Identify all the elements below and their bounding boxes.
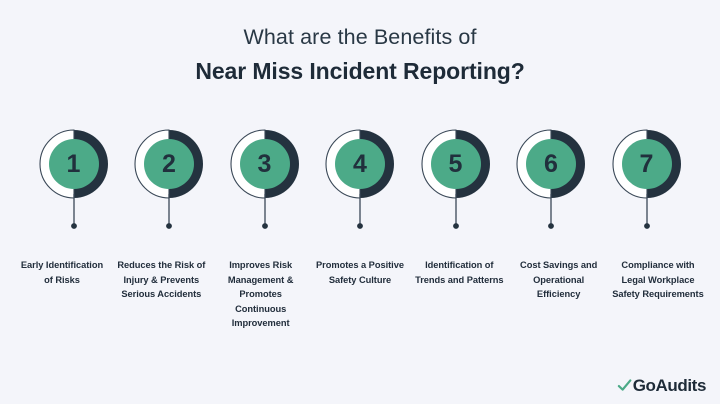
step-item: 4 bbox=[313, 128, 408, 236]
step-caption: Improves Risk Management & Promotes Cont… bbox=[215, 258, 307, 331]
infographic-canvas: What are the Benefits of Near Miss Incid… bbox=[0, 0, 720, 404]
step-caption: Compliance with Legal Workplace Safety R… bbox=[612, 258, 704, 302]
step-caption: Reduces the Risk of Injury & Prevents Se… bbox=[115, 258, 207, 302]
step-badge: 7 bbox=[611, 128, 683, 236]
goaudits-logo: GoAudits bbox=[617, 377, 706, 394]
step-item: 7 bbox=[599, 128, 694, 236]
step-badge: 3 bbox=[229, 128, 301, 236]
badge-ring-icon bbox=[229, 128, 301, 236]
badge-ring-icon bbox=[133, 128, 205, 236]
step-caption: Identification of Trends and Patterns bbox=[413, 258, 505, 287]
step-badge: 2 bbox=[133, 128, 205, 236]
step-badge: 6 bbox=[515, 128, 587, 236]
badge-ring-icon bbox=[38, 128, 110, 236]
step-caption: Promotes a Positive Safety Culture bbox=[314, 258, 406, 287]
badge-ring-icon bbox=[420, 128, 492, 236]
badge-ring-icon bbox=[611, 128, 683, 236]
step-item: 3 bbox=[217, 128, 312, 236]
title-line-1: What are the Benefits of bbox=[0, 22, 720, 52]
check-icon bbox=[617, 378, 632, 393]
title-line-2: Near Miss Incident Reporting? bbox=[0, 56, 720, 86]
step-item: 2 bbox=[122, 128, 217, 236]
steps-row: 1 2 bbox=[26, 128, 694, 236]
badge-ring-icon bbox=[324, 128, 396, 236]
step-item: 5 bbox=[408, 128, 503, 236]
step-caption: Cost Savings and Operational Efficiency bbox=[513, 258, 605, 302]
step-badge: 4 bbox=[324, 128, 396, 236]
page-title: What are the Benefits of Near Miss Incid… bbox=[0, 22, 720, 86]
step-caption: Early Identification of Risks bbox=[16, 258, 108, 287]
logo-text: GoAudits bbox=[633, 377, 706, 394]
badge-ring-icon bbox=[515, 128, 587, 236]
step-item: 1 bbox=[26, 128, 121, 236]
step-item: 6 bbox=[504, 128, 599, 236]
step-badge: 5 bbox=[420, 128, 492, 236]
captions-row: Early Identification of Risks Reduces th… bbox=[16, 258, 704, 331]
step-badge: 1 bbox=[38, 128, 110, 236]
